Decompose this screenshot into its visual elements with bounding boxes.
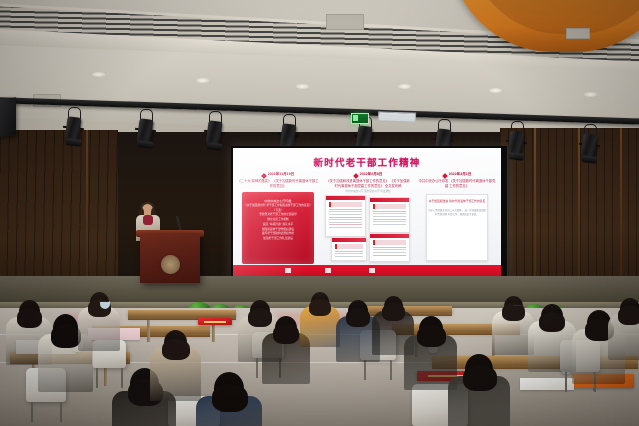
attendee-hair bbox=[539, 312, 565, 332]
doc-header-bar bbox=[370, 234, 409, 238]
projection-screen: 新时代老干部工作精神 2021年11月19日 《二十大 精神的落实》 《关于加强… bbox=[233, 148, 501, 276]
slide-doc-right-body: 为深入贯彻落实党的二十大精神， 进一步加强和改进新时代离退休 干部工作，现提出如… bbox=[427, 209, 487, 216]
doc-text-line bbox=[329, 222, 362, 223]
doc-text-line bbox=[373, 247, 406, 248]
doc-text-line bbox=[329, 209, 362, 210]
attendee-17 bbox=[608, 298, 639, 366]
doc-text-line bbox=[373, 216, 406, 217]
slide-col-mid-date: 2022年2月8日 bbox=[360, 172, 383, 177]
stage-light-7 bbox=[509, 129, 524, 159]
stage-light-1 bbox=[66, 115, 81, 145]
bullet-diamond-icon bbox=[353, 173, 359, 179]
doc-text-line bbox=[335, 251, 363, 252]
stage-light-3 bbox=[207, 119, 222, 149]
slide-col-mid-text: 《关于加强和改进离退休干部工作的意见》 《关于加强新时代离退休干部党建工作的意见… bbox=[325, 179, 411, 189]
doc-header-bar bbox=[332, 238, 366, 242]
doc-text-line bbox=[335, 256, 363, 257]
doc-title-block bbox=[335, 244, 363, 249]
doc-text-line bbox=[329, 217, 362, 218]
slide-col-right-text: 中共中央办公厅印发 《关于加强新时代离退休干部党建 工作的意见》 bbox=[417, 179, 497, 189]
slide-doc-right-heading: 关于加强和改进 新时代离退休干部工作的意见 bbox=[427, 199, 487, 203]
presenter-scarf bbox=[143, 215, 153, 225]
attendee-hair bbox=[162, 339, 190, 360]
exit-sign-icon bbox=[351, 113, 369, 124]
doc-text-line bbox=[329, 219, 362, 220]
slide-footer-band bbox=[233, 265, 501, 276]
attendee-13 bbox=[448, 354, 510, 426]
slide-doc-thumb-doc-c bbox=[331, 237, 367, 261]
attendee-15 bbox=[528, 304, 576, 379]
lectern-emblem-icon bbox=[161, 255, 180, 274]
chair-5-leg bbox=[390, 360, 392, 380]
doc-header-bar bbox=[326, 196, 365, 200]
doc-text-line bbox=[335, 253, 363, 254]
chair-2-leg bbox=[96, 368, 98, 388]
slide-col-left-date: 2021年11月19日 bbox=[268, 172, 295, 177]
highlight-line-list: 坚持党对老干部工作的全面领导健全完善工作机制提高 “两项待遇” 落实水平加强离退… bbox=[242, 213, 314, 241]
doc-text-line bbox=[373, 221, 406, 222]
doc-text-line bbox=[373, 213, 406, 214]
fluorescent-tube-light bbox=[378, 111, 416, 122]
attendee-hair bbox=[51, 324, 81, 348]
conference-hall-photo: 新时代老干部工作精神 2021年11月19日 《二十大 精神的落实》 《关于加强… bbox=[0, 0, 639, 426]
doc-title-block bbox=[373, 240, 406, 245]
attendee-hair bbox=[382, 303, 405, 321]
doc-header-bar bbox=[370, 198, 409, 202]
doc-text-line bbox=[329, 227, 362, 228]
highlight-heading: 中共中央办公厅印发 bbox=[242, 192, 314, 204]
footer-mark bbox=[369, 268, 375, 273]
slide-title: 新时代老干部工作精神 bbox=[233, 155, 501, 169]
highlight-line: 加强老干部工作队伍建设 bbox=[242, 237, 314, 242]
doc-text-line bbox=[329, 214, 362, 215]
downlight-4 bbox=[398, 84, 411, 89]
loudspeaker bbox=[0, 97, 16, 136]
attendee-5 bbox=[150, 330, 201, 408]
chair-1-leg bbox=[60, 402, 62, 422]
slide-document-thumbnails bbox=[325, 195, 411, 261]
attendee-hair bbox=[309, 299, 331, 316]
attendee-hair bbox=[618, 306, 639, 325]
bullet-diamond-icon bbox=[442, 173, 448, 179]
downlight-5 bbox=[489, 88, 502, 93]
attendee-hair bbox=[346, 308, 370, 327]
doc-text-line bbox=[373, 224, 406, 225]
doc-text-line bbox=[373, 211, 406, 212]
red-folder-2 bbox=[198, 318, 232, 325]
doc-text-line bbox=[373, 252, 406, 253]
slide-col-right-date: 2022年3月1日 bbox=[449, 172, 472, 177]
slide-col-left-text: 《二十大 精神的落实》 《关于加强新时代离退休干部工作的意见》 bbox=[237, 179, 319, 189]
slide-doc-thumb-doc-b bbox=[369, 197, 410, 233]
footer-mark bbox=[325, 268, 331, 273]
attendee-6 bbox=[196, 372, 262, 426]
doc-text-line bbox=[373, 249, 406, 250]
highlight-subheading: 《关于加强新时代 老干部工作和离退休干部工作的意见》 bbox=[242, 204, 314, 209]
slide-document-right: 关于加强和改进 新时代离退休干部工作的意见 为深入贯彻落实党的二十大精神， 进一… bbox=[426, 194, 488, 261]
ceiling-vent-square-right bbox=[566, 28, 590, 39]
eyeglasses bbox=[99, 301, 109, 304]
doc-text-line bbox=[329, 211, 362, 212]
chair-1-leg bbox=[31, 402, 33, 422]
downlight-6 bbox=[584, 92, 597, 97]
doc-text-line bbox=[373, 219, 406, 220]
slide-column-middle: 2022年2月8日 《关于加强和改进离退休干部工作的意见》 《关于加强新时代离退… bbox=[325, 172, 411, 261]
slide-highlight-box: 中共中央办公厅印发 《关于加强新时代 老干部工作和离退休干部工作的意见》 （节选… bbox=[242, 192, 314, 264]
downlight-1 bbox=[92, 72, 105, 77]
stage-light-2 bbox=[138, 117, 153, 147]
doc-text-line bbox=[329, 224, 362, 225]
stage-light-8 bbox=[582, 132, 597, 162]
eyeglasses bbox=[513, 305, 523, 308]
doc-title-block bbox=[373, 204, 406, 209]
downlight-3 bbox=[296, 84, 309, 89]
attendee-9 bbox=[300, 292, 340, 353]
doc-text-line bbox=[373, 255, 406, 256]
attendee-hair bbox=[212, 384, 248, 412]
ceiling-vent-square-top bbox=[326, 14, 364, 30]
attendee-3 bbox=[78, 292, 120, 357]
attendee-hair bbox=[273, 324, 299, 344]
slide-column-right: 2022年3月1日 中共中央办公厅印发 《关于加强新时代离退休干部党建 工作的意… bbox=[417, 172, 497, 261]
attendee-hair bbox=[417, 325, 446, 347]
slide-column-left: 2021年11月19日 《二十大 精神的落实》 《关于加强新时代离退休干部工作的… bbox=[237, 172, 319, 264]
slide-doc-thumb-doc-a bbox=[325, 195, 366, 237]
table-3 bbox=[128, 310, 236, 317]
slide-doc-thumb-doc-d bbox=[369, 233, 410, 262]
footer-mark bbox=[285, 268, 291, 273]
attendee-hair bbox=[463, 365, 497, 391]
doc-title-block bbox=[329, 202, 362, 207]
bullet-diamond-icon bbox=[261, 173, 267, 179]
slide-col-mid-caption: 中共中央办公厅 国务院办公厅 印发通知 bbox=[325, 190, 411, 194]
downlight-2 bbox=[196, 78, 209, 83]
